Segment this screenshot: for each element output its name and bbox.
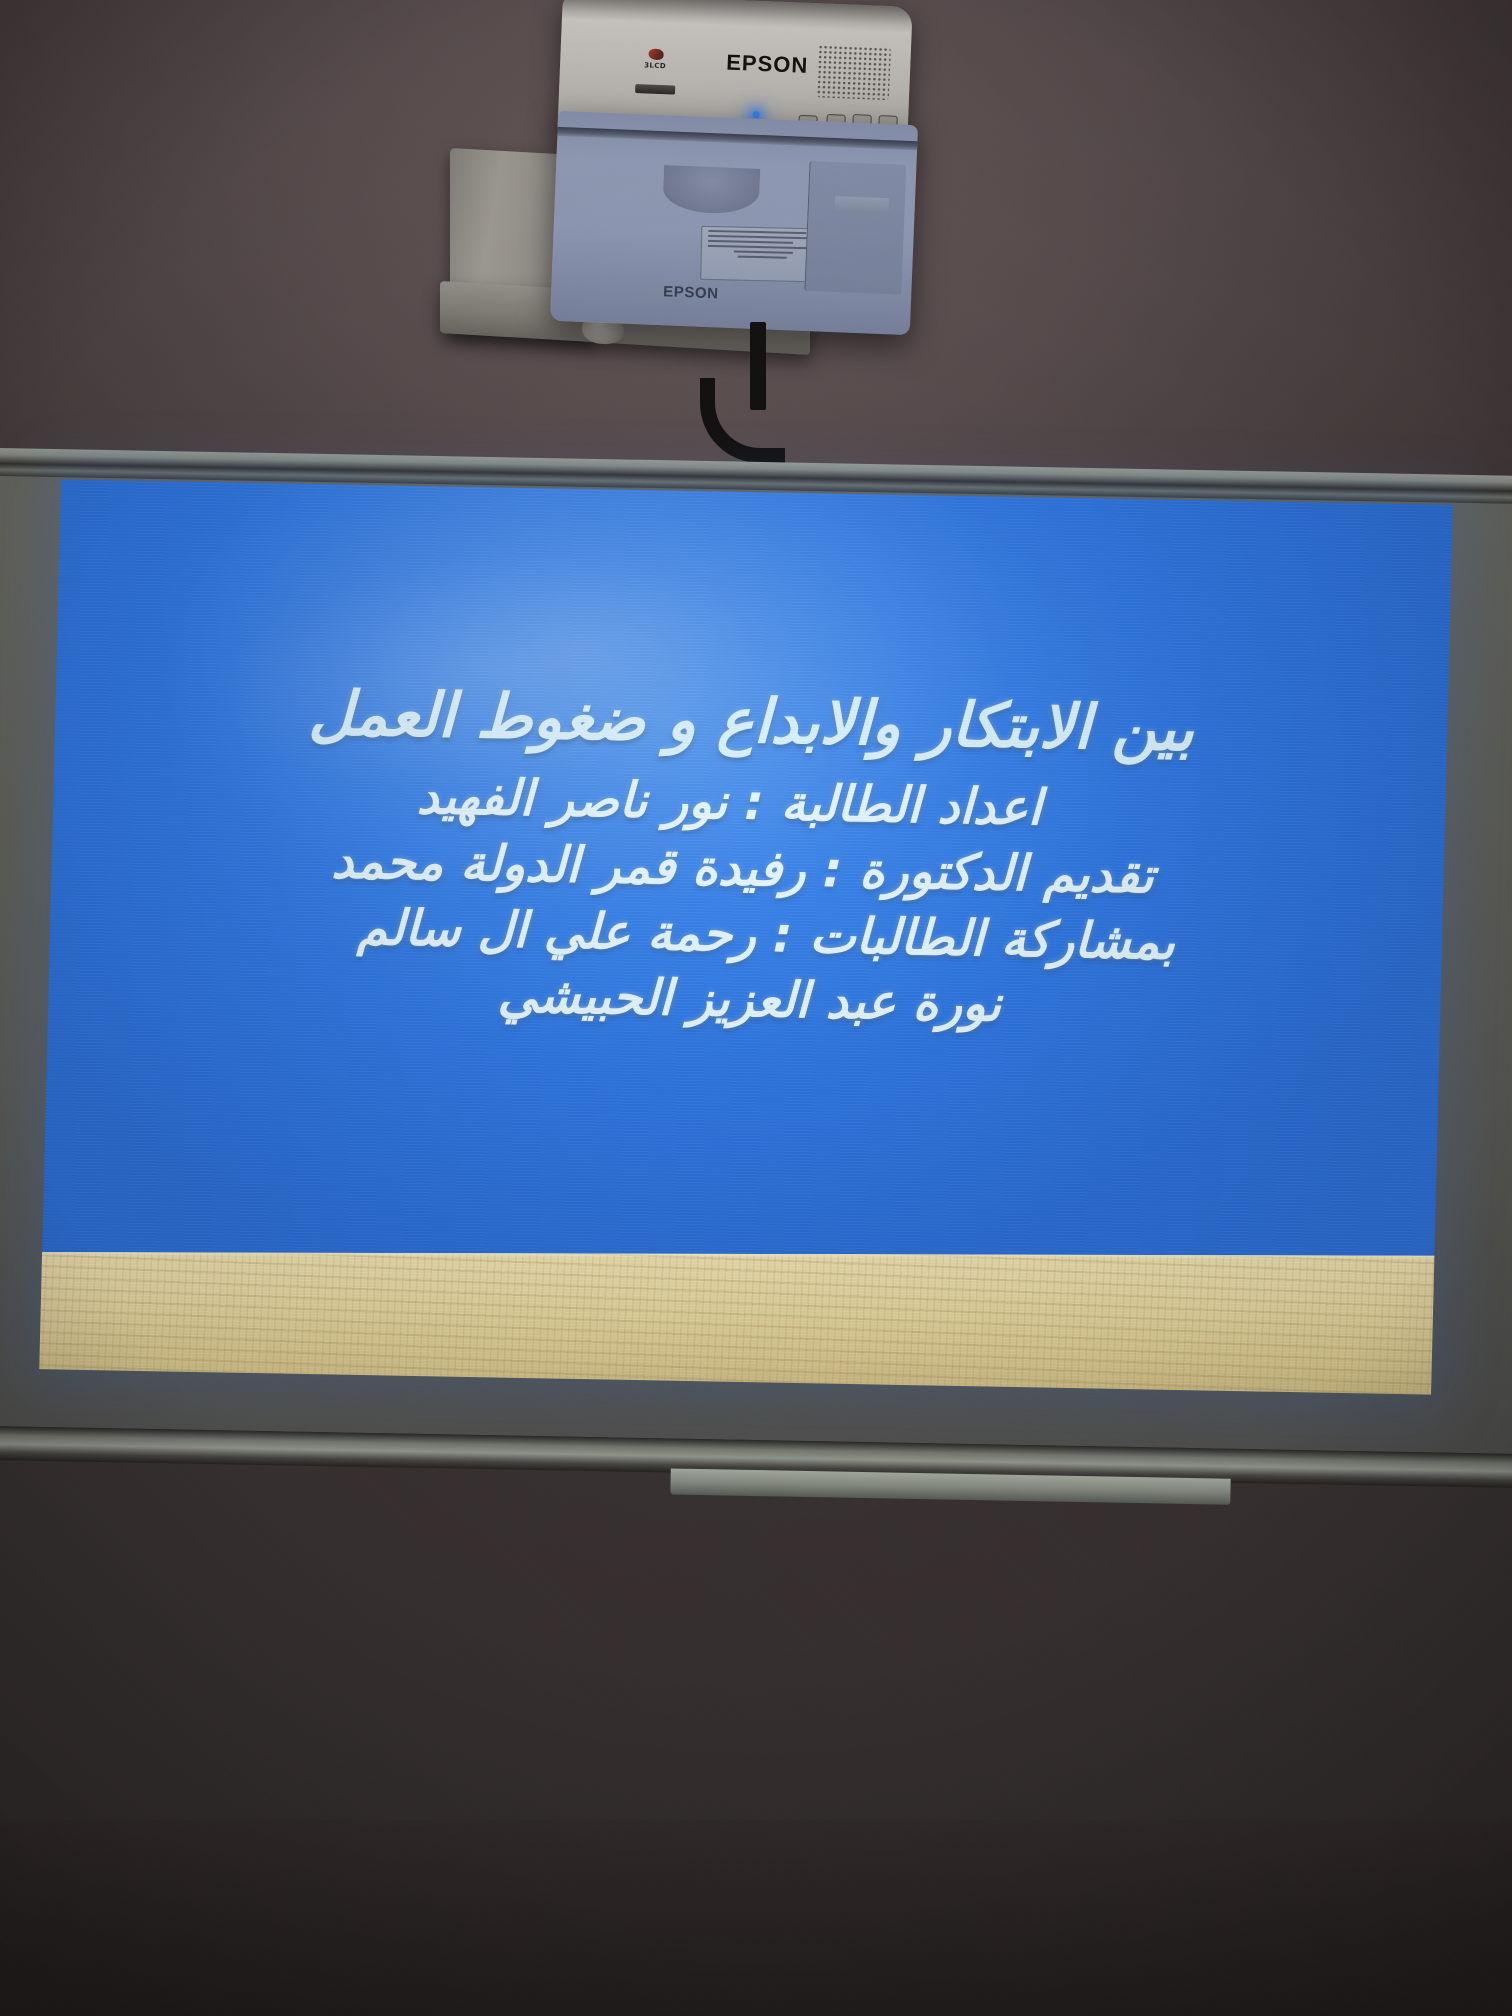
label-line [708,245,815,249]
label-line [708,235,820,240]
power-led [753,111,760,118]
ceiling-projector: 3LCD EPSON EB-675Wi [560,0,980,392]
3lcd-logo: 3LCD [638,48,673,75]
label-line [708,240,793,244]
slide-text-block: بين الابتكار والابداع و ضغوط العمل اعداد… [48,675,1448,1045]
label-line [734,251,793,254]
projector-cable-bundle [650,322,780,442]
exhaust-vent-grille [817,45,891,100]
lens-cowl [662,165,760,215]
room-wall-lower [0,1820,1512,2016]
3lcd-logo-text: 3LCD [644,61,666,70]
projector-lens-housing: EPSON [550,111,918,335]
label-line [738,256,787,259]
housing-shadow [562,0,913,33]
epson-brand-lower: EPSON [663,283,719,302]
3lcd-mark-icon [648,49,663,61]
io-panel-label [835,196,890,212]
housing-seam [557,127,917,150]
epson-brand-top: EPSON [726,50,809,79]
ir-receiver-slot [635,84,675,95]
classroom-projection-scene: 3LCD EPSON EB-675Wi [0,0,1512,2016]
io-port-panel [804,161,906,295]
label-line [708,230,806,234]
projected-slide: بين الابتكار والابداع و ضغوط العمل اعداد… [39,479,1453,1394]
